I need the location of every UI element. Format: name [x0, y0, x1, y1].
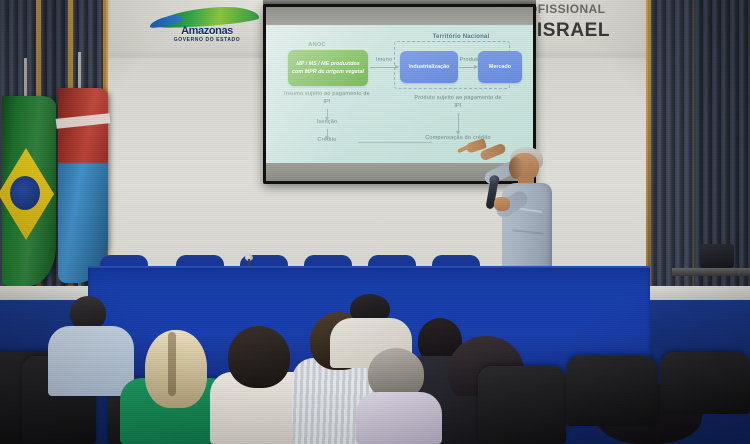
slide-arrow-product [459, 67, 477, 68]
slide-arrow-label-input: Imuno [365, 57, 403, 65]
slide-arrow-left-2 [327, 129, 328, 136]
slide-note-right-2: Compensação do crédito [418, 135, 498, 143]
slide-box-origin: MP / MS / ME produzidos com MPR de orige… [288, 50, 368, 86]
logo-subtitle: GOVERNO DO ESTADO [153, 37, 261, 43]
audience-member-8-body [356, 392, 442, 444]
speaker-mic-hand [494, 197, 510, 211]
slide-arrow-input [370, 67, 398, 68]
slide-note-right-1: Produto sujeito ao pagamento de IPI [412, 95, 504, 111]
audience-chair-d [478, 366, 566, 444]
logo-wordmark: Amazonas [153, 25, 261, 37]
slide-note-left-1: Insumo sujeito ao pagamento de IPI [284, 91, 370, 107]
curtain-panel-right-1 [648, 0, 694, 300]
audience-chair-f [660, 352, 750, 414]
audience-member-1-head [70, 296, 106, 330]
speaker-face [509, 157, 523, 179]
amazonas-government-logo: Amazonas GOVERNO DO ESTADO [145, 6, 265, 48]
amazonas-flag [58, 88, 108, 283]
curtain-seam-right [692, 0, 694, 300]
screen-top-band [266, 7, 533, 25]
brazil-flag [2, 96, 56, 286]
slide-arrow-left-1 [327, 109, 328, 117]
slide-note-left-3: Crédito [298, 137, 356, 145]
slide-note-left-2: Isenção [298, 119, 356, 127]
audience-chair-e [566, 356, 658, 426]
slide-box-industrialization: Industrialização [400, 51, 458, 83]
audience-member-3-head [228, 326, 290, 388]
pillar-strip-right [646, 0, 651, 300]
presentation-room-photo: Amazonas GOVERNO DO ESTADO C ÃO PROFISSI… [0, 0, 750, 444]
audience-member-2-head [145, 330, 207, 408]
audience-member-1-body [48, 326, 134, 396]
slide-box-market: Mercado [478, 51, 522, 83]
slide-arrow-right-1 [458, 113, 459, 131]
equipment-shelf [672, 268, 750, 276]
slide-heading-territory: Território Nacional [406, 34, 516, 40]
audience-member-2-hair-part [168, 332, 176, 396]
slide-label-anoc: ANOC [294, 42, 340, 48]
equipment-box [700, 244, 734, 268]
speaker-ear [528, 163, 534, 171]
